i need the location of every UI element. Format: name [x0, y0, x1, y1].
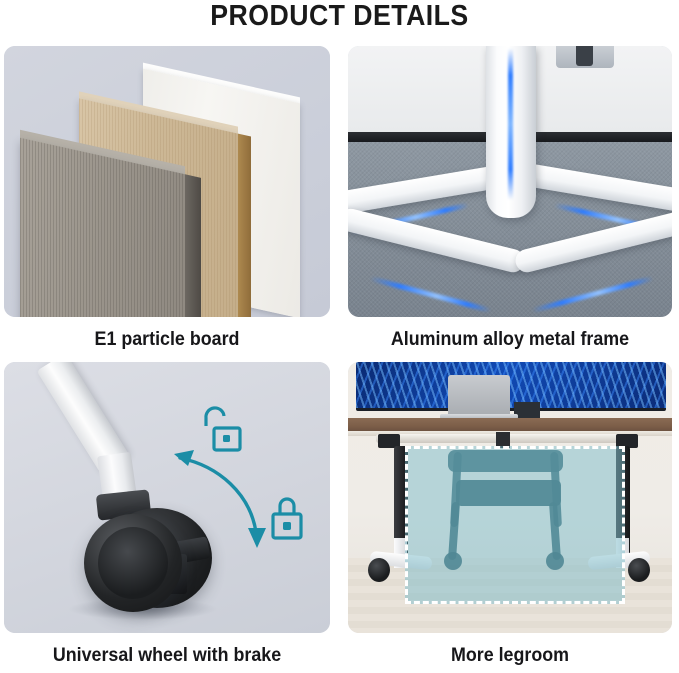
desk-top [348, 418, 672, 432]
product-details-infographic: PRODUCT DETAILS E1 particle board [0, 0, 679, 673]
panel-particle-board [4, 46, 330, 317]
desk-caster-left [368, 558, 390, 582]
gray-board [20, 138, 185, 317]
caption-metal-frame: Aluminum alloy metal frame [358, 329, 663, 351]
caption-universal-wheel: Universal wheel with brake [14, 645, 320, 667]
caption-legroom: More legroom [358, 645, 663, 667]
panel-legroom [348, 362, 672, 633]
legroom-highlight-area [405, 446, 625, 604]
oak-board-side-edge [238, 134, 251, 317]
caster-tire-inner [98, 527, 168, 599]
monitor-screen [356, 362, 666, 411]
desk-caster-right [628, 558, 650, 582]
monitor-bracket [576, 46, 593, 66]
page-title: PRODUCT DETAILS [27, 1, 652, 31]
gray-board-side-edge [185, 174, 201, 317]
led-glow-center-post [508, 48, 513, 200]
caption-particle-board: E1 particle board [14, 329, 320, 351]
panel-universal-wheel [4, 362, 330, 633]
laptop [448, 375, 510, 415]
panel-metal-frame [348, 46, 672, 317]
